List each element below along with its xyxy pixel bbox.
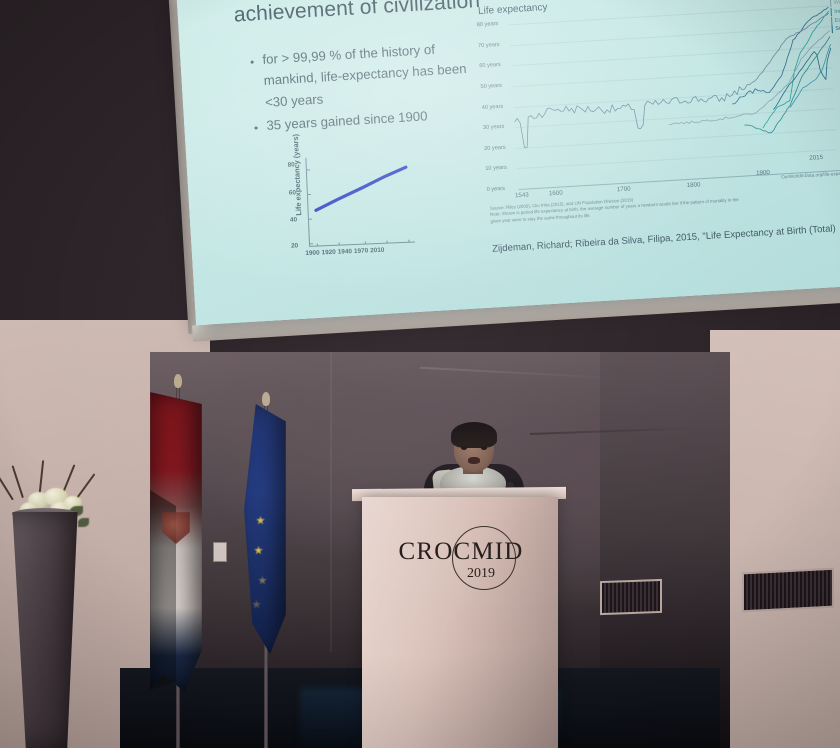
- series-line-united-kingdom: [509, 13, 835, 148]
- chart-plot-area: 80 years 70 years 60 years 50 years 40 y…: [509, 5, 838, 189]
- legend-item-india: India: [830, 6, 840, 17]
- y-tick-label: 40 years: [482, 104, 504, 111]
- wall-vent-icon: [742, 568, 834, 613]
- y-tick-label: 30 years: [483, 124, 505, 131]
- y-tick-label: 60 years: [479, 62, 501, 69]
- series-line-india: [739, 36, 835, 134]
- flagpole-finial: [174, 374, 182, 388]
- logo-year: 2019: [436, 566, 526, 582]
- x-tick-label: 1600: [549, 189, 563, 197]
- inset-life-expectancy-chart: Life expectancy (years) 80 60 40 20 1900…: [279, 148, 414, 273]
- y-tick-label: 0 years: [486, 186, 505, 193]
- wall-vent-icon: [600, 579, 662, 615]
- flagpole-finial: [262, 392, 270, 406]
- logo-text: CROCMID: [378, 538, 544, 566]
- presentation-slide: Improved health and achievement of civil…: [176, 0, 840, 325]
- presentation-photo: Improved health and achievement of civil…: [0, 0, 840, 748]
- y-tick-label: 10 years: [485, 165, 507, 172]
- projection-screen-wrapper: Improved health and achievement of civil…: [176, 0, 840, 345]
- light-switch[interactable]: [213, 542, 227, 562]
- life-expectancy-chart: Life expectancy Our World in Data: [478, 0, 840, 236]
- speaker-hair: [451, 422, 497, 448]
- series-line-world: [664, 31, 835, 125]
- x-tick-label: 1800: [687, 181, 701, 189]
- y-tick-label: 20 years: [484, 145, 506, 152]
- slide-bullets: for > 99,99 % of the history of mankind,…: [246, 36, 491, 140]
- y-tick-label: 50 years: [480, 83, 502, 90]
- speaker-mouth: [468, 457, 480, 464]
- x-tick-label: 1543: [515, 191, 529, 199]
- podium-logo: CROCMID 2019: [378, 524, 544, 592]
- legend-item-south-africa: South Africa: [831, 23, 840, 34]
- inset-series-svg: [279, 148, 414, 273]
- wall-seam: [330, 352, 332, 652]
- inset-series-line: [314, 167, 407, 210]
- legend-item-world: World: [830, 0, 840, 8]
- chart-series-svg: [509, 5, 838, 189]
- y-tick-label: 70 years: [478, 42, 500, 49]
- projection-screen: Improved health and achievement of civil…: [176, 0, 840, 325]
- list-item: for > 99,99 % of the history of mankind,…: [262, 36, 489, 113]
- x-tick-label: 1700: [617, 185, 631, 193]
- y-tick-label: 80 years: [477, 21, 499, 28]
